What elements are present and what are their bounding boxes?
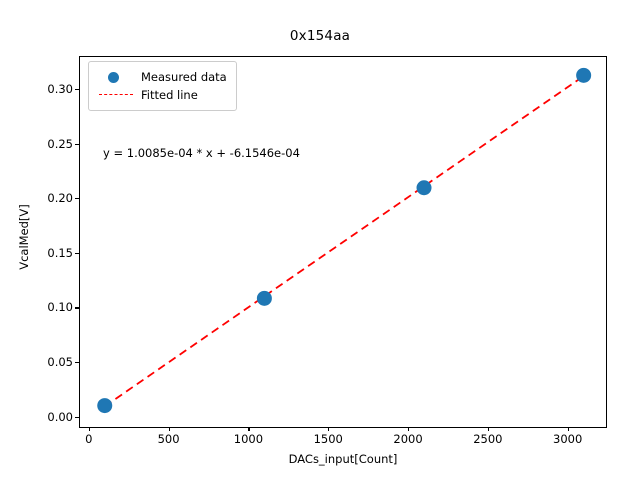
data-point: [257, 291, 272, 306]
y-tick-label: 0.10: [47, 300, 73, 314]
x-tick-label: 0: [85, 432, 92, 446]
x-tick-label: 1000: [234, 432, 263, 446]
dashed-line-icon: [99, 94, 133, 95]
y-tick-label: 0.15: [47, 246, 73, 260]
y-tick-label: 0.20: [47, 191, 73, 205]
x-tick-label: 2000: [393, 432, 422, 446]
y-tick-mark: [75, 362, 79, 363]
data-point: [97, 398, 112, 413]
data-point: [576, 68, 591, 83]
y-tick-mark: [75, 198, 79, 199]
x-tick-label: 3000: [553, 432, 582, 446]
y-tick-label: 0.05: [47, 355, 73, 369]
legend-dashed-line-icon: [97, 87, 135, 103]
plot-canvas: [80, 57, 606, 427]
y-tick-label: 0.30: [47, 82, 73, 96]
x-tick-label: 500: [158, 432, 180, 446]
y-tick-label: 0.00: [47, 410, 73, 424]
data-point: [417, 180, 432, 195]
fit-equation-annotation: y = 1.0085e-04 * x + -6.1546e-04: [103, 146, 300, 160]
legend-item-measured-data: Measured data: [97, 68, 227, 86]
y-tick-mark: [75, 89, 79, 90]
x-axis-label: DACs_input[Count]: [79, 452, 607, 466]
x-tick-mark: [328, 427, 329, 431]
matplotlib-figure: 0x154aa 050010001500200025003000 0.000.0…: [0, 0, 640, 480]
circle-marker-icon: [108, 72, 119, 83]
y-tick-mark: [75, 253, 79, 254]
plot-svg: [80, 57, 606, 427]
x-tick-label: 2500: [473, 432, 502, 446]
x-tick-mark: [248, 427, 249, 431]
x-tick-mark: [488, 427, 489, 431]
legend-label-fitted-line: Fitted line: [141, 88, 198, 102]
x-tick-mark: [169, 427, 170, 431]
fit-line-segment: [105, 76, 584, 406]
fitted-line: [105, 76, 584, 406]
x-tick-mark: [89, 427, 90, 431]
y-tick-mark: [75, 144, 79, 145]
legend-item-fitted-line: Fitted line: [97, 86, 227, 104]
y-tick-label: 0.25: [47, 137, 73, 151]
x-tick-mark: [568, 427, 569, 431]
x-tick-mark: [408, 427, 409, 431]
legend: Measured data Fitted line: [88, 61, 237, 111]
y-tick-mark: [75, 307, 79, 308]
y-tick-mark: [75, 417, 79, 418]
y-axis-label: VcalMed[V]: [17, 137, 31, 337]
legend-marker-icon: [97, 69, 135, 85]
x-tick-label: 1500: [314, 432, 343, 446]
plot-area: [79, 56, 607, 428]
legend-label-measured-data: Measured data: [141, 70, 227, 84]
page-title: 0x154aa: [0, 28, 640, 44]
